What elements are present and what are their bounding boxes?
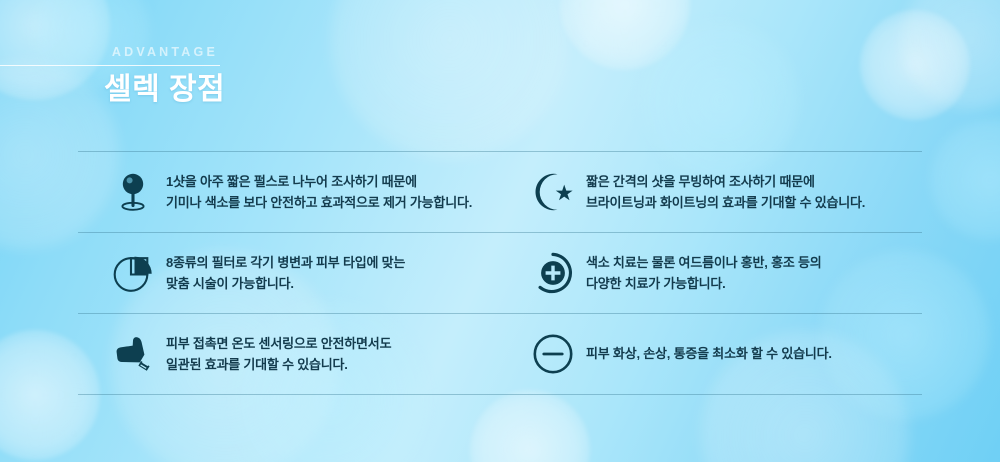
advantage-text: 피부 접촉면 온도 센서링으로 안전하면서도 일관된 효과를 기대할 수 있습니… (166, 333, 391, 375)
row-divider (78, 394, 922, 395)
advantage-text: 짧은 간격의 샷을 무빙하여 조사하기 때문에 브라이트닝과 화이트닝의 효과를… (586, 171, 865, 213)
thumbs-up-icon (100, 326, 166, 382)
advantage-row: 8종류의 필터로 각기 병변과 피부 타입에 맞는 맞춤 시술이 가능합니다. … (78, 233, 922, 313)
advantage-item: 8종류의 필터로 각기 병변과 피부 타입에 맞는 맞춤 시술이 가능합니다. (78, 233, 500, 313)
crescent-moon-star-icon (520, 164, 586, 220)
header-divider (0, 65, 220, 66)
bokeh-circle (560, 0, 690, 70)
advantage-text: 색소 치료는 물론 여드름이나 홍반, 홍조 등의 다양한 치료가 가능합니다. (586, 252, 822, 294)
bokeh-circle (860, 10, 970, 120)
bokeh-circle (470, 390, 590, 462)
advantage-item: 짧은 간격의 샷을 무빙하여 조사하기 때문에 브라이트닝과 화이트닝의 효과를… (500, 152, 922, 232)
advantage-text: 8종류의 필터로 각기 병변과 피부 타입에 맞는 맞춤 시술이 가능합니다. (166, 252, 405, 294)
bokeh-circle (900, 0, 1000, 110)
advantage-row: 1샷을 아주 짧은 펄스로 나누어 조사하기 때문에 기미나 색소를 보다 안전… (78, 152, 922, 232)
bokeh-circle (330, 0, 570, 160)
advantage-row: 피부 접촉면 온도 센서링으로 안전하면서도 일관된 효과를 기대할 수 있습니… (78, 314, 922, 394)
advantage-text: 1샷을 아주 짧은 펄스로 나누어 조사하기 때문에 기미나 색소를 보다 안전… (166, 171, 472, 213)
map-pin-icon (100, 164, 166, 220)
advantage-text: 피부 화상, 손상, 통증을 최소화 할 수 있습니다. (586, 343, 832, 364)
advantage-item: 1샷을 아주 짧은 펄스로 나누어 조사하기 때문에 기미나 색소를 보다 안전… (78, 152, 500, 232)
advantage-item: 색소 치료는 물론 여드름이나 홍반, 홍조 등의 다양한 치료가 가능합니다. (500, 233, 922, 313)
advantage-section: ADVANTAGE 셀렉 장점 1샷을 아주 짧은 펄스로 나누어 조사하기 때… (0, 0, 1000, 462)
minus-circle-icon (520, 326, 586, 382)
bokeh-circle (930, 120, 1000, 240)
section-eyebrow: ADVANTAGE (0, 46, 330, 59)
advantage-item: 피부 화상, 손상, 통증을 최소화 할 수 있습니다. (500, 314, 922, 394)
pie-chart-icon (100, 245, 166, 301)
advantage-list: 1샷을 아주 짧은 펄스로 나누어 조사하기 때문에 기미나 색소를 보다 안전… (78, 151, 922, 395)
advantage-item: 피부 접촉면 온도 센서링으로 안전하면서도 일관된 효과를 기대할 수 있습니… (78, 314, 500, 394)
medical-plus-circle-icon (520, 245, 586, 301)
section-header: ADVANTAGE 셀렉 장점 (0, 46, 330, 108)
page-title: 셀렉 장점 (0, 72, 330, 109)
